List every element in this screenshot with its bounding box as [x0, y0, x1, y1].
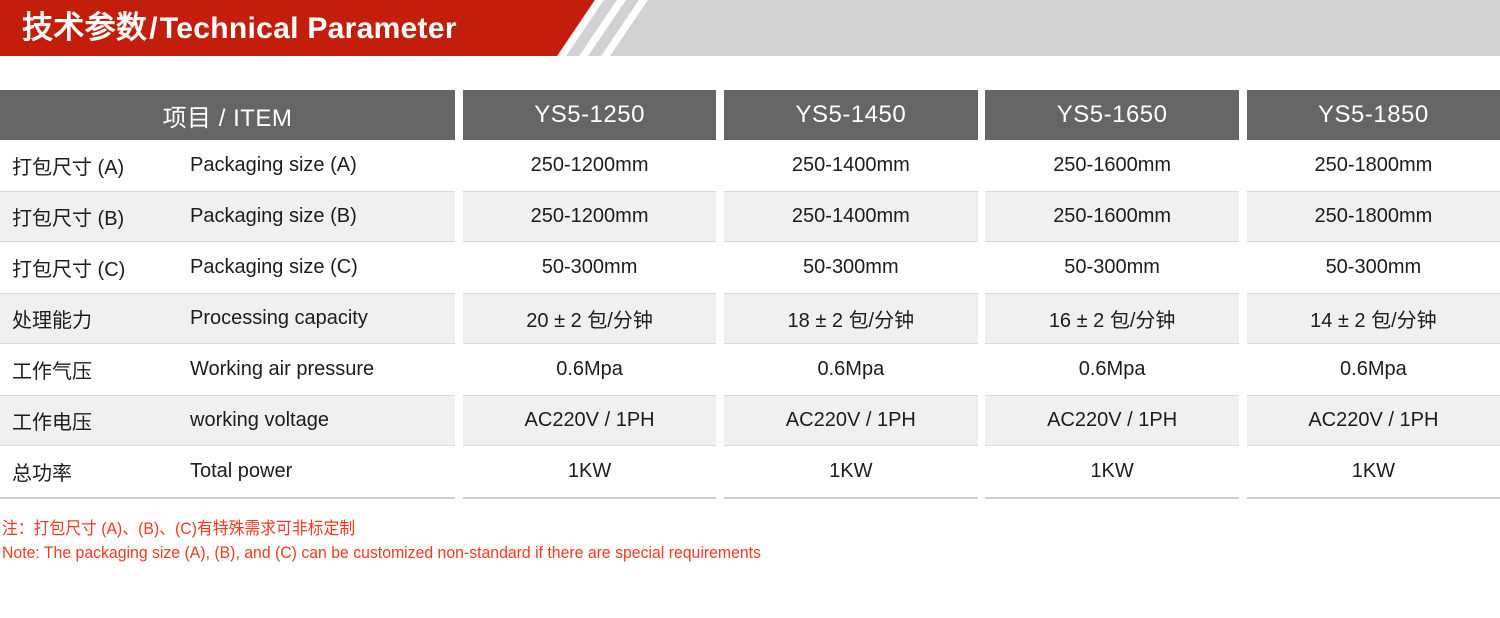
row-value-cell: 50-300mm — [1247, 242, 1500, 293]
bottom-rule-segment — [985, 497, 1238, 499]
column-gap — [716, 140, 724, 191]
banner-spacer — [0, 56, 1500, 90]
column-gap — [455, 446, 463, 497]
footnote: 注：打包尺寸 (A)、(B)、(C)有特殊需求可非标定制 Note: The p… — [0, 517, 1500, 565]
column-gap — [455, 140, 463, 191]
row-value-cell: 50-300mm — [463, 242, 716, 293]
table-row: 处理能力 Processing capacity 20 ± 2 包/分钟 18 … — [0, 293, 1500, 344]
banner-title-en: Technical Parameter — [160, 12, 457, 45]
row-label-en: Total power — [190, 460, 292, 483]
row-value-cell: 0.6Mpa — [724, 344, 977, 395]
row-label-en: Packaging size (A) — [190, 154, 357, 177]
column-gap — [978, 497, 986, 499]
row-label-cell: 打包尺寸 (B) Packaging size (B) — [0, 191, 455, 242]
column-gap — [716, 191, 724, 242]
bottom-rule-segment — [0, 497, 455, 499]
row-value-cell: 250-1400mm — [724, 140, 977, 191]
row-value-cell: AC220V / 1PH — [724, 395, 977, 446]
column-gap — [716, 242, 724, 293]
table-row: 工作气压 Working air pressure 0.6Mpa 0.6Mpa … — [0, 344, 1500, 395]
bottom-rule-segment — [724, 497, 977, 499]
row-label-cn: 处理能力 — [12, 304, 190, 333]
row-value-cell: 250-1800mm — [1247, 140, 1500, 191]
row-value-cell: AC220V / 1PH — [463, 395, 716, 446]
row-label-cn: 总功率 — [12, 457, 190, 486]
row-value-cell: 250-1200mm — [463, 191, 716, 242]
row-value-cell: 1KW — [985, 446, 1238, 497]
column-gap — [1239, 191, 1247, 242]
column-gap — [716, 497, 724, 499]
page-banner: 技术参数/Technical Parameter — [0, 0, 1500, 56]
row-value-cell: 250-1600mm — [985, 191, 1238, 242]
column-gap — [1239, 140, 1247, 191]
row-label-cell: 总功率 Total power — [0, 446, 455, 497]
header-cell-model-1: YS5-1250 — [463, 90, 716, 140]
table-header-row: 项目 / ITEM YS5-1250 YS5-1450 YS5-1650 YS5… — [0, 90, 1500, 140]
column-gap — [1239, 344, 1247, 395]
column-gap — [455, 497, 463, 499]
table-row: 工作电压 working voltage AC220V / 1PH AC220V… — [0, 395, 1500, 446]
row-value-cell: 50-300mm — [724, 242, 977, 293]
row-label-cell: 工作电压 working voltage — [0, 395, 455, 446]
column-gap — [455, 191, 463, 242]
table-row: 打包尺寸 (C) Packaging size (C) 50-300mm 50-… — [0, 242, 1500, 293]
bottom-rule-segment — [1247, 497, 1500, 499]
column-gap — [1239, 395, 1247, 446]
row-label-cn: 打包尺寸 (B) — [12, 202, 190, 231]
row-value-cell: AC220V / 1PH — [1247, 395, 1500, 446]
column-gap — [978, 90, 986, 140]
banner-title-separator: / — [147, 12, 160, 45]
row-label-cell: 处理能力 Processing capacity — [0, 293, 455, 344]
header-cell-model-4: YS5-1850 — [1247, 90, 1500, 140]
column-gap — [455, 344, 463, 395]
row-label-cell: 打包尺寸 (C) Packaging size (C) — [0, 242, 455, 293]
row-label-cn: 打包尺寸 (C) — [12, 253, 190, 282]
row-value-cell: 14 ± 2 包/分钟 — [1247, 293, 1500, 344]
column-gap — [455, 242, 463, 293]
row-value-cell: 0.6Mpa — [985, 344, 1238, 395]
banner-title: 技术参数/Technical Parameter — [22, 0, 457, 56]
row-value-cell: AC220V / 1PH — [985, 395, 1238, 446]
row-label-en: Processing capacity — [190, 307, 368, 330]
row-value-cell: 50-300mm — [985, 242, 1238, 293]
header-cell-item: 项目 / ITEM — [0, 90, 455, 140]
column-gap — [1239, 446, 1247, 497]
column-gap — [455, 90, 463, 140]
row-value-cell: 16 ± 2 包/分钟 — [985, 293, 1238, 344]
column-gap — [978, 191, 986, 242]
row-label-en: Packaging size (B) — [190, 205, 357, 228]
column-gap — [978, 242, 986, 293]
column-gap — [455, 395, 463, 446]
footnote-line-cn: 注：打包尺寸 (A)、(B)、(C)有特殊需求可非标定制 — [2, 517, 1395, 541]
row-value-cell: 250-1600mm — [985, 140, 1238, 191]
table-row: 打包尺寸 (A) Packaging size (A) 250-1200mm 2… — [0, 140, 1500, 191]
column-gap — [1239, 293, 1247, 344]
column-gap — [716, 395, 724, 446]
row-value-cell: 20 ± 2 包/分钟 — [463, 293, 716, 344]
column-gap — [1239, 90, 1247, 140]
row-value-cell: 1KW — [724, 446, 977, 497]
column-gap — [716, 446, 724, 497]
table-bottom-rule — [0, 497, 1500, 499]
bottom-rule-segment — [463, 497, 716, 499]
header-cell-model-3: YS5-1650 — [985, 90, 1238, 140]
row-label-cell: 工作气压 Working air pressure — [0, 344, 455, 395]
row-value-cell: 1KW — [1247, 446, 1500, 497]
row-label-cn: 打包尺寸 (A) — [12, 151, 190, 180]
row-value-cell: 250-1800mm — [1247, 191, 1500, 242]
column-gap — [978, 395, 986, 446]
footnote-line-en: Note: The packaging size (A), (B), and (… — [2, 541, 1395, 565]
table-row: 总功率 Total power 1KW 1KW 1KW 1KW — [0, 446, 1500, 497]
column-gap — [978, 344, 986, 395]
row-value-cell: 250-1200mm — [463, 140, 716, 191]
row-label-cn: 工作气压 — [12, 355, 190, 384]
column-gap — [716, 90, 724, 140]
row-value-cell: 18 ± 2 包/分钟 — [724, 293, 977, 344]
header-cell-model-2: YS5-1450 — [724, 90, 977, 140]
row-label-cn: 工作电压 — [12, 406, 190, 435]
row-value-cell: 0.6Mpa — [1247, 344, 1500, 395]
row-label-en: working voltage — [190, 409, 329, 432]
row-label-en: Working air pressure — [190, 358, 374, 381]
row-value-cell: 1KW — [463, 446, 716, 497]
row-value-cell: 0.6Mpa — [463, 344, 716, 395]
column-gap — [716, 293, 724, 344]
column-gap — [978, 446, 986, 497]
column-gap — [455, 293, 463, 344]
column-gap — [716, 344, 724, 395]
column-gap — [1239, 242, 1247, 293]
row-label-cell: 打包尺寸 (A) Packaging size (A) — [0, 140, 455, 191]
column-gap — [978, 293, 986, 344]
technical-parameter-table: 项目 / ITEM YS5-1250 YS5-1450 YS5-1650 YS5… — [0, 90, 1500, 499]
banner-title-cn: 技术参数 — [22, 10, 147, 45]
column-gap — [1239, 497, 1247, 499]
row-value-cell: 250-1400mm — [724, 191, 977, 242]
row-label-en: Packaging size (C) — [190, 256, 358, 279]
column-gap — [978, 140, 986, 191]
table-row: 打包尺寸 (B) Packaging size (B) 250-1200mm 2… — [0, 191, 1500, 242]
